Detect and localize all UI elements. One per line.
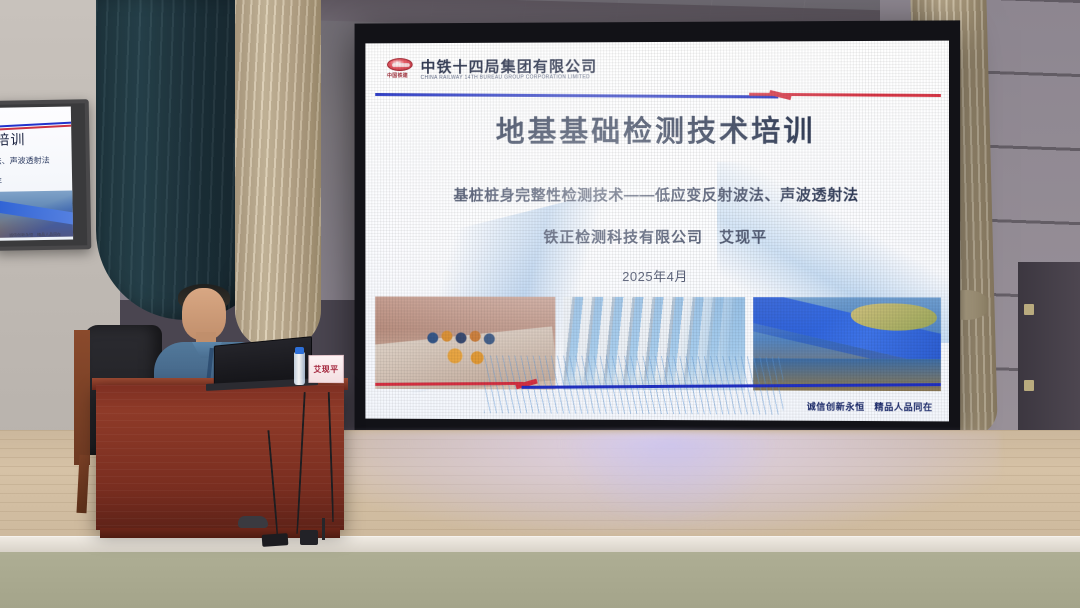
monitor-footer-fragment: 诚信创新永恒 精品人品同在 bbox=[9, 232, 61, 239]
lecture-hall-scene: 培训 法、声波透射法 年 诚信创新永恒 精品人品同在 中国铁建 中铁十四局集团有… bbox=[0, 0, 1080, 608]
name-card-text: 艾现平 bbox=[314, 363, 339, 374]
slide-date: 2025年4月 bbox=[365, 266, 949, 286]
presenter-name-card: 艾现平 bbox=[308, 355, 343, 383]
bottom-rule-red bbox=[375, 382, 523, 386]
company-name-cn: 中铁十四局集团有限公司 bbox=[421, 59, 598, 75]
company-name-en: CHINA RAILWAY 14TH BUREAU GROUP CORPORAT… bbox=[421, 75, 598, 81]
slide-bottom-rule bbox=[375, 381, 941, 391]
wall-mounted-preview-monitor[interactable]: 培训 法、声波透射法 年 诚信创新永恒 精品人品同在 bbox=[0, 99, 91, 251]
logo-caption: 中国铁建 bbox=[387, 72, 408, 79]
slide-title: 地基基础检测技术培训 bbox=[365, 107, 949, 151]
stage-edge-lip bbox=[0, 536, 1080, 552]
bottle-cap-icon bbox=[295, 347, 304, 354]
cable-connector-box bbox=[300, 530, 318, 545]
lectern-wood-grain bbox=[96, 385, 344, 530]
slide-presenter-line: 铁正检测科技有限公司 艾现平 bbox=[365, 226, 949, 247]
chair-wood-frame bbox=[74, 330, 90, 465]
slide-footer-slogan: 诚信创新永恒 精品人品同在 bbox=[807, 400, 933, 414]
logo-oval-shape bbox=[387, 58, 413, 71]
monitor-bridge-photo bbox=[0, 190, 73, 238]
led-video-wall[interactable]: 中国铁建 中铁十四局集团有限公司 CHINA RAILWAY 14TH BURE… bbox=[355, 20, 961, 439]
power-strip bbox=[262, 533, 289, 547]
monitor-date-fragment: 年 bbox=[0, 176, 2, 187]
lectern-foot-shadow bbox=[238, 516, 268, 528]
china-railway-logo-icon: 中国铁建 bbox=[387, 57, 413, 83]
bottom-rule-blue bbox=[522, 383, 941, 389]
monitor-screen: 培训 法、声波透射法 年 诚信创新永恒 精品人品同在 bbox=[0, 106, 73, 240]
water-bottle[interactable] bbox=[294, 352, 305, 385]
slide-subtitle: 基桩桩身完整性检测技术——低应变反射波法、声波透射法 bbox=[365, 184, 949, 206]
stage-front-panel bbox=[0, 552, 1080, 608]
slide-top-rule bbox=[375, 89, 941, 101]
door-hinge-icon bbox=[1024, 380, 1034, 391]
presentation-slide: 中国铁建 中铁十四局集团有限公司 CHINA RAILWAY 14TH BURE… bbox=[365, 41, 949, 422]
door-hinge-icon bbox=[1024, 304, 1034, 315]
screen-reflection-hotspot bbox=[560, 436, 780, 528]
wooden-lectern[interactable] bbox=[96, 385, 344, 530]
microphone-stand bbox=[322, 518, 325, 540]
company-name-block: 中铁十四局集团有限公司 CHINA RAILWAY 14TH BUREAU GR… bbox=[421, 59, 598, 81]
monitor-title-fragment: 培训 bbox=[0, 129, 26, 150]
slide-header: 中国铁建 中铁十四局集团有限公司 CHINA RAILWAY 14TH BURE… bbox=[387, 56, 597, 83]
top-rule-blue bbox=[375, 93, 778, 98]
monitor-subtitle-fragment: 法、声波透射法 bbox=[0, 155, 50, 167]
